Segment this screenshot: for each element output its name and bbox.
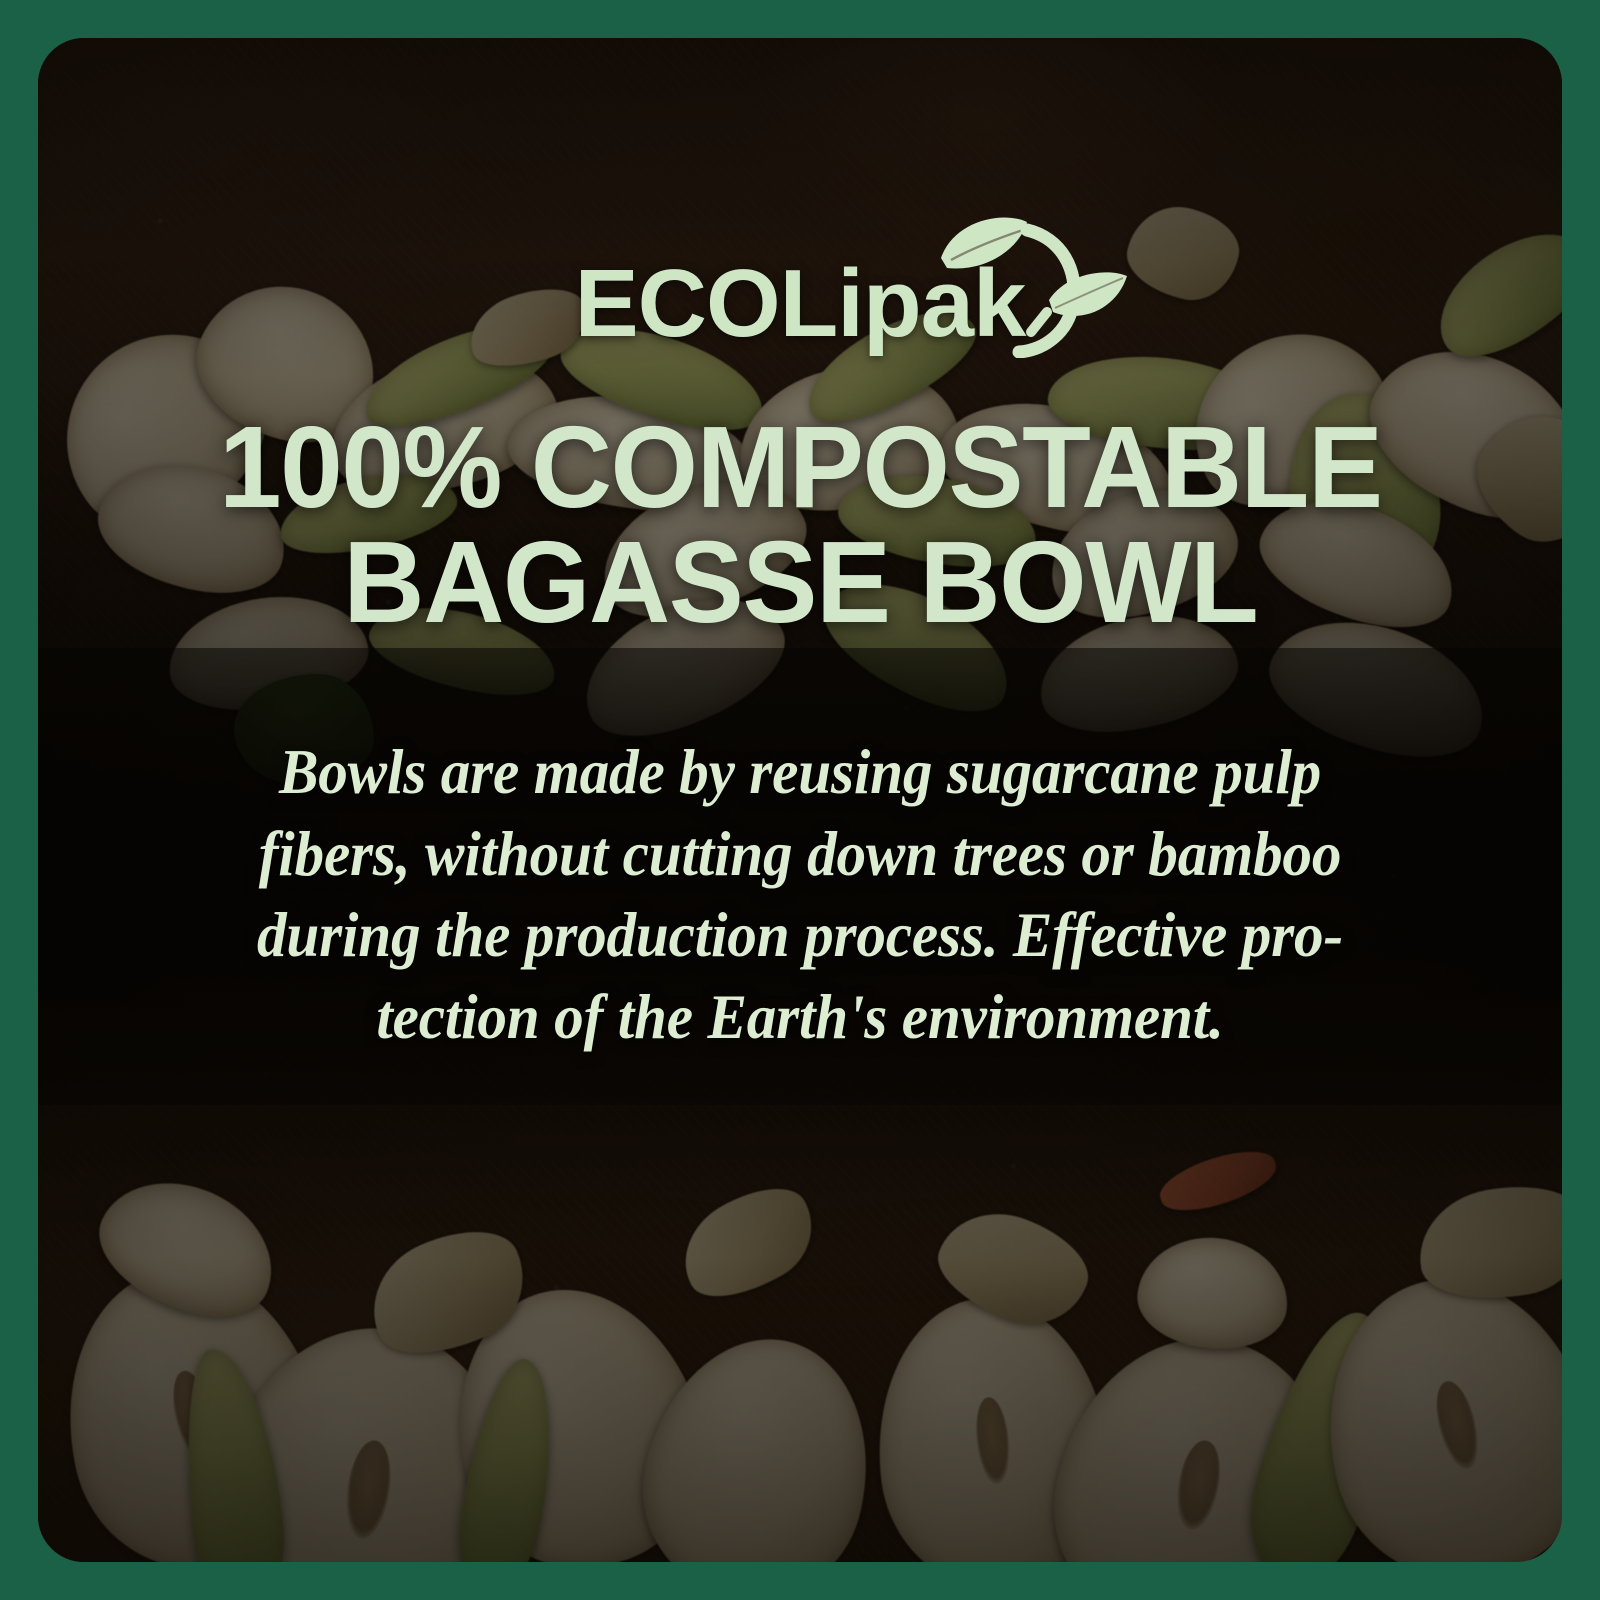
brand-logo: ECOLipak [575,234,1026,352]
page-title: 100% COMPOSTABLE BAGASSE BOWL [190,410,1411,640]
poster-canvas: ECOLipak 100% COMPOSTABLE BAGASSE BOWL B… [0,0,1600,1600]
description-text: Bowls are made by reusing sugarcane pulp… [175,732,1425,1060]
leaf-icon [927,208,1137,358]
poster-content: ECOLipak 100% COMPOSTABLE BAGASSE BOWL B… [38,38,1562,1562]
photo-panel: ECOLipak 100% COMPOSTABLE BAGASSE BOWL B… [38,38,1562,1562]
